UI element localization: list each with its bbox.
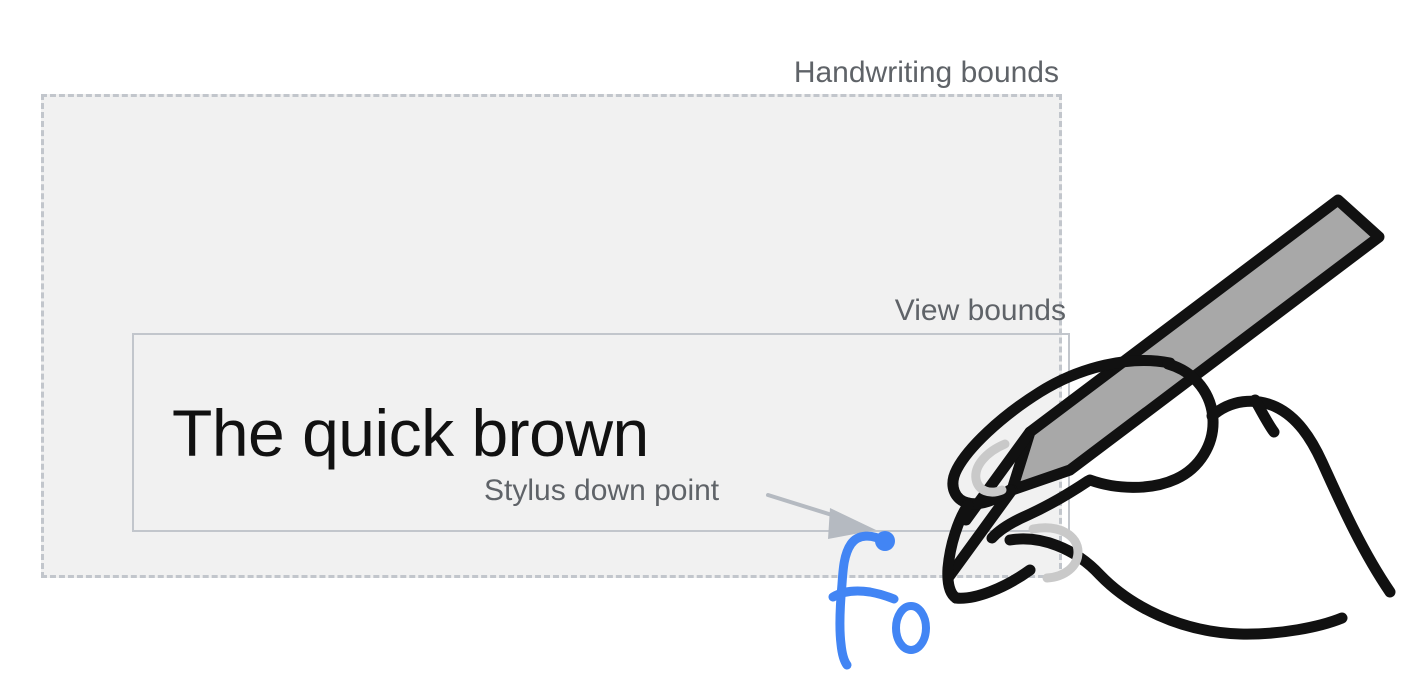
handwriting-diagram-canvas: Handwriting bounds View bounds The quick…	[0, 0, 1427, 688]
view-bounds-label: View bounds	[895, 293, 1066, 329]
stylus-down-point-label: Stylus down point	[484, 473, 719, 509]
ink-stroke-o	[896, 606, 926, 650]
handwriting-bounds-label: Handwriting bounds	[794, 55, 1059, 91]
recognized-text: The quick brown	[172, 394, 649, 472]
